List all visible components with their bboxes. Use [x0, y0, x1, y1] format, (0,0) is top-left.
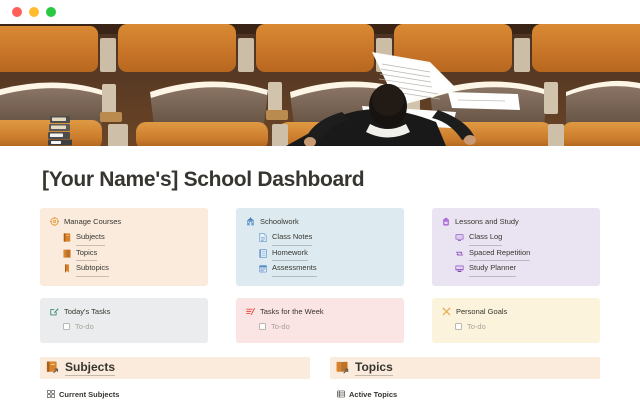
- link-label: Homework: [272, 246, 308, 262]
- link-label: Class Log: [469, 230, 502, 246]
- card-heading-text: Today's Tasks: [64, 306, 110, 317]
- database-topics: Topics Active Topics: [330, 357, 600, 400]
- link-assessments[interactable]: Assessments: [259, 261, 394, 277]
- card-personal-goals[interactable]: Personal Goals To-do: [432, 298, 600, 343]
- tab-label: Active Topics: [349, 390, 397, 399]
- tab-label: Current Subjects: [59, 390, 119, 399]
- card-header: Personal Goals: [442, 306, 590, 317]
- link-label: Assessments: [272, 261, 317, 277]
- link-subjects[interactable]: Subjects: [63, 230, 198, 246]
- todo-item[interactable]: To-do: [442, 320, 590, 334]
- card-header: Tasks for the Week: [246, 306, 394, 317]
- table-view-icon: [337, 390, 345, 398]
- card-header: Schoolwork: [246, 216, 394, 227]
- card-header: Manage Courses: [50, 216, 198, 227]
- todo-checkbox[interactable]: [63, 323, 70, 330]
- database-title-bar[interactable]: Subjects: [40, 357, 310, 379]
- window-titlebar: [0, 0, 640, 24]
- card-link-list: Class Log Spaced Repetition: [442, 230, 590, 277]
- crossed-darts-icon: [442, 307, 451, 316]
- database-title: Topics: [355, 360, 393, 376]
- page-title: [Your Name's] School Dashboard: [42, 168, 600, 192]
- card-link-list: Subjects Topics: [50, 230, 198, 277]
- database-section: Subjects Current Subjects: [40, 357, 600, 400]
- link-label: Study Planner: [469, 261, 516, 277]
- card-schoolwork[interactable]: Schoolwork Class Notes: [236, 208, 404, 286]
- minimize-window-button[interactable]: [29, 7, 39, 17]
- card-header: Lessons and Study: [442, 216, 590, 227]
- todo-label: To-do: [467, 320, 486, 334]
- open-books-link-icon: [336, 361, 349, 374]
- card-manage-courses[interactable]: Manage Courses Subjects: [40, 208, 208, 286]
- database-title-bar[interactable]: Topics: [330, 357, 600, 379]
- stacked-books-icon: [46, 114, 76, 146]
- page-content: [Your Name's] School Dashboard Manage Co…: [0, 146, 640, 400]
- notebook-icon: [259, 249, 267, 258]
- card-link-list: Class Notes Homework: [246, 230, 394, 277]
- tab-active-topics[interactable]: Active Topics: [335, 387, 403, 400]
- link-label: Class Notes: [272, 230, 312, 246]
- bookmark-icon: [63, 264, 71, 273]
- monitor-icon: [455, 233, 464, 242]
- card-row-top: Manage Courses Subjects: [40, 208, 600, 286]
- card-heading-text: Schoolwork: [260, 216, 299, 227]
- backpack-icon: [442, 217, 450, 226]
- page-icon[interactable]: [46, 114, 76, 146]
- card-tasks-for-the-week[interactable]: Tasks for the Week To-do: [236, 298, 404, 343]
- closed-book-icon: [63, 233, 71, 242]
- link-label: Topics: [76, 246, 97, 262]
- maximize-window-button[interactable]: [46, 7, 56, 17]
- link-class-notes[interactable]: Class Notes: [259, 230, 394, 246]
- todo-label: To-do: [271, 320, 290, 334]
- link-label: Subjects: [76, 230, 105, 246]
- todo-checkbox[interactable]: [455, 323, 462, 330]
- checklist-icon: [246, 307, 255, 316]
- database-view-tabs: Active Topics: [330, 387, 600, 400]
- database-view-tabs: Current Subjects: [40, 387, 310, 400]
- card-heading-text: Personal Goals: [456, 306, 507, 317]
- note-page-icon: [259, 233, 267, 242]
- card-todays-tasks[interactable]: Today's Tasks To-do: [40, 298, 208, 343]
- link-homework[interactable]: Homework: [259, 246, 394, 262]
- desktop-icon: [455, 264, 464, 273]
- link-topics[interactable]: Topics: [63, 246, 198, 262]
- auditorium-seats-illustration: [0, 24, 640, 146]
- closed-book-link-icon: [46, 361, 59, 374]
- link-label: Subtopics: [76, 261, 109, 277]
- database-title: Subjects: [65, 360, 115, 376]
- pencil-square-icon: [50, 307, 59, 316]
- cover-image[interactable]: [0, 24, 640, 146]
- link-class-log[interactable]: Class Log: [455, 230, 590, 246]
- open-books-icon: [63, 249, 71, 258]
- card-lessons-and-study[interactable]: Lessons and Study Class Log: [432, 208, 600, 286]
- card-header: Today's Tasks: [50, 306, 198, 317]
- card-row-bottom: Today's Tasks To-do: [40, 298, 600, 343]
- todo-label: To-do: [75, 320, 94, 334]
- link-spaced-repetition[interactable]: Spaced Repetition: [455, 246, 590, 262]
- calendar-icon: [259, 264, 267, 273]
- gear-icon: [50, 217, 59, 226]
- card-heading-text: Tasks for the Week: [260, 306, 324, 317]
- database-subjects: Subjects Current Subjects: [40, 357, 310, 400]
- link-subtopics[interactable]: Subtopics: [63, 261, 198, 277]
- todo-item[interactable]: To-do: [50, 320, 198, 334]
- tab-current-subjects[interactable]: Current Subjects: [45, 387, 125, 400]
- close-window-button[interactable]: [12, 7, 22, 17]
- todo-item[interactable]: To-do: [246, 320, 394, 334]
- card-heading-text: Manage Courses: [64, 216, 121, 227]
- repeat-arrows-icon: [455, 249, 464, 258]
- link-study-planner[interactable]: Study Planner: [455, 261, 590, 277]
- gallery-view-icon: [47, 390, 55, 398]
- school-building-icon: [246, 217, 255, 226]
- card-heading-text: Lessons and Study: [455, 216, 519, 227]
- app-window: [Your Name's] School Dashboard Manage Co…: [0, 0, 640, 400]
- link-label: Spaced Repetition: [469, 246, 530, 262]
- todo-checkbox[interactable]: [259, 323, 266, 330]
